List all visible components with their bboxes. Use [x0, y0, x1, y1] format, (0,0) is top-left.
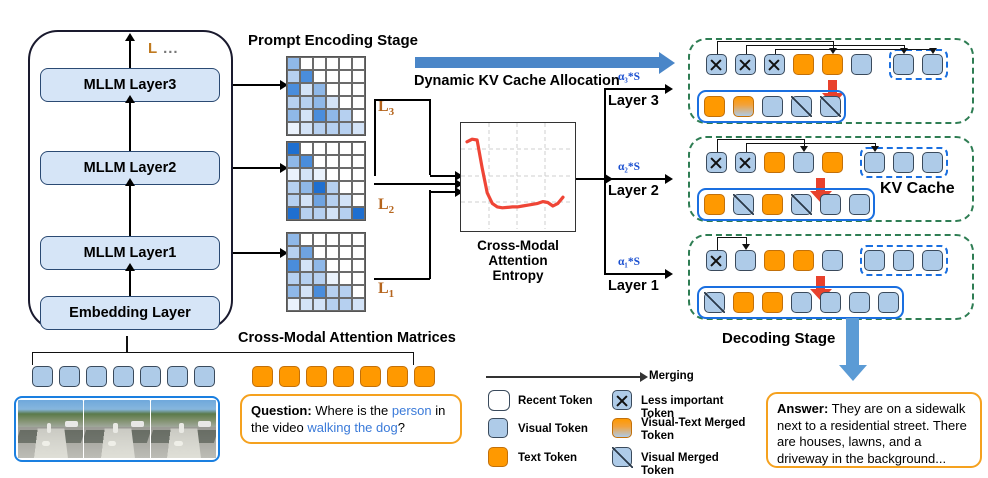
- merge-connector: [717, 237, 746, 238]
- matrix-cell: [352, 96, 365, 109]
- matrix-cell: [339, 83, 352, 96]
- matrix-cell: [300, 233, 313, 246]
- matrix-cell: [339, 246, 352, 259]
- input-text-token: [360, 366, 381, 387]
- matrix-cell: [352, 272, 365, 285]
- input-text-token: [414, 366, 435, 387]
- kv-cache-token: [820, 96, 841, 117]
- matrix-cell: [326, 194, 339, 207]
- input-text-token: [306, 366, 327, 387]
- video-frame-2: [84, 400, 149, 458]
- visual-token-row: [32, 366, 215, 387]
- matrix-cell: [326, 285, 339, 298]
- merge-line-l1-v: [429, 190, 431, 279]
- dynamic-allocation-banner-arrow: [415, 57, 660, 68]
- matrix-cell: [287, 168, 300, 181]
- matrix-cell: [326, 70, 339, 83]
- arrow-l2-to-l3: [129, 102, 131, 151]
- matrix-cell: [326, 168, 339, 181]
- input-text-token: [387, 366, 408, 387]
- input-visual-token: [167, 366, 188, 387]
- matrix-cell: [339, 168, 352, 181]
- kv-recent-token: [893, 152, 914, 173]
- dynamic-allocation-label: Dynamic KV Cache Allocation: [414, 73, 620, 89]
- merge-connector: [746, 45, 904, 46]
- matrix-cell: [326, 246, 339, 259]
- matrix-cell: [352, 207, 365, 220]
- matrix-label-l3: L3: [378, 98, 394, 118]
- entropy-chart-svg: [461, 123, 573, 229]
- matrix-cell: [352, 285, 365, 298]
- arrow-out-top: [129, 40, 131, 68]
- matrix-cell: [287, 246, 300, 259]
- kv-cache-token: [791, 194, 812, 215]
- video-thumbnail-strip: [14, 396, 220, 462]
- arrow-l3-to-matrix: [233, 84, 281, 86]
- kv-prefix-token: [706, 152, 727, 173]
- arrow-alloc-layer3: [604, 88, 666, 90]
- matrix-cell: [287, 259, 300, 272]
- kv-prefix-token: [735, 54, 756, 75]
- matrix-cell: [326, 155, 339, 168]
- matrix-cell: [287, 70, 300, 83]
- matrix-cell: [287, 57, 300, 70]
- merge-line-l3-h: [374, 99, 430, 101]
- matrix-cell: [313, 207, 326, 220]
- matrix-cell: [300, 259, 313, 272]
- input-visual-token: [59, 366, 80, 387]
- matrix-cell: [313, 168, 326, 181]
- legend: Merging Recent Token Less important Toke…: [486, 370, 754, 470]
- merge-line-l3: [374, 100, 376, 176]
- matrix-cell: [300, 285, 313, 298]
- legend-swatch-visual-token: [488, 418, 508, 438]
- kv-prefix-token: [822, 250, 843, 271]
- legend-swatch-visual-merged-token: [612, 447, 632, 467]
- matrix-cell: [352, 194, 365, 207]
- arrow-entropy-to-alloc: [576, 178, 606, 180]
- matrix-cell: [287, 142, 300, 155]
- entropy-caption-l2: Attention: [452, 253, 584, 268]
- matrix-cell: [300, 83, 313, 96]
- matrix-cell: [313, 259, 326, 272]
- repeat-dots: ...: [163, 40, 179, 57]
- input-visual-token: [113, 366, 134, 387]
- input-token-brace: [32, 352, 414, 365]
- kv-cache-token: [762, 96, 783, 117]
- arrow-l1-to-entropy: [430, 191, 456, 193]
- kv-prefix-token: [851, 54, 872, 75]
- merge-arrow-tip: [929, 48, 937, 54]
- entropy-caption-l1: Cross-Modal: [452, 238, 584, 253]
- kv-prefix-token: [822, 54, 843, 75]
- arrow-alloc-layer1: [604, 273, 666, 275]
- kv-cache-token: [878, 292, 899, 313]
- input-visual-token: [194, 366, 215, 387]
- merge-line-l1-h: [374, 278, 430, 280]
- matrix-cell: [287, 155, 300, 168]
- layer3-label: Layer 3: [608, 93, 659, 109]
- kv-prefix-token: [793, 54, 814, 75]
- matrix-cell: [352, 259, 365, 272]
- matrix-cell: [339, 70, 352, 83]
- question-part1: Where is the: [312, 403, 392, 418]
- matrix-cell: [287, 194, 300, 207]
- legend-swatch-less-important-token: [612, 390, 632, 410]
- matrix-cell: [313, 142, 326, 155]
- matrix-cell: [287, 298, 300, 311]
- legend-swatch-visual-text-merged-token: [612, 418, 632, 438]
- entropy-caption-l3: Entropy: [452, 268, 584, 283]
- prompt-encoding-stage-title: Prompt Encoding Stage: [248, 32, 418, 49]
- repeat-letter: L: [148, 40, 158, 57]
- entropy-chart: [460, 122, 576, 232]
- matrix-cell: [339, 298, 352, 311]
- matrix-cell: [313, 298, 326, 311]
- layer1-label: Layer 1: [608, 278, 659, 294]
- kv-prefix-token: [764, 152, 785, 173]
- kv-prefix-token: [764, 54, 785, 75]
- matrix-cell: [352, 181, 365, 194]
- kv-recent-token: [893, 250, 914, 271]
- matrix-cell: [339, 96, 352, 109]
- kv-cache-token: [704, 292, 725, 313]
- matrix-cell: [339, 57, 352, 70]
- merge-connector: [717, 41, 833, 42]
- video-frame-1: [18, 400, 83, 458]
- kv-cache-token: [820, 292, 841, 313]
- kv-prefix-token: [735, 250, 756, 271]
- answer-label: Answer:: [777, 401, 828, 416]
- input-text-token: [279, 366, 300, 387]
- merge-arrow-tip: [871, 146, 879, 152]
- kv-prefix-token: [793, 152, 814, 173]
- arrow-l3-to-entropy: [430, 175, 456, 177]
- matrix-cell: [300, 246, 313, 259]
- entropy-caption: Cross-Modal Attention Entropy: [452, 238, 584, 283]
- decoding-arrow: [846, 318, 859, 366]
- matrix-cell: [300, 109, 313, 122]
- matrix-cell: [352, 142, 365, 155]
- kv-recent-token: [922, 152, 943, 173]
- matrix-cell: [313, 285, 326, 298]
- text-token-row: [252, 366, 435, 387]
- matrix-label-l2: L2: [378, 196, 394, 216]
- kv-cache-token: [791, 96, 812, 117]
- question-highlight-action: walking the dog: [307, 420, 397, 435]
- kv-recent-token: [864, 152, 885, 173]
- question-label: Question:: [251, 403, 312, 418]
- matrix-cell: [300, 272, 313, 285]
- matrix-cell: [339, 155, 352, 168]
- merge-connector: [717, 139, 718, 152]
- matrix-cell: [300, 207, 313, 220]
- matrix-label-l1: L1: [378, 280, 394, 300]
- matrix-cell: [352, 70, 365, 83]
- matrix-cell: [313, 272, 326, 285]
- kv-cache-token: [733, 292, 754, 313]
- matrix-cell: [326, 298, 339, 311]
- matrix-cell: [326, 259, 339, 272]
- alloc-spine-lower: [604, 178, 606, 274]
- arrow-l2-to-entropy: [374, 183, 456, 185]
- layer2-label: Layer 2: [608, 183, 659, 199]
- matrix-cell: [339, 233, 352, 246]
- matrix-cell: [352, 298, 365, 311]
- matrix-cell: [300, 122, 313, 135]
- matrix-cell: [352, 168, 365, 181]
- alpha-layer3: α₃*S: [618, 71, 640, 83]
- merge-connector: [717, 237, 718, 250]
- kv-cache-token: [762, 194, 783, 215]
- matrix-cell: [326, 83, 339, 96]
- matrix-cell: [313, 246, 326, 259]
- kv-cache-token: [704, 96, 725, 117]
- matrix-cell: [287, 285, 300, 298]
- kv-cache-token: [733, 96, 754, 117]
- kv-recent-token: [922, 250, 943, 271]
- matrix-cell: [339, 142, 352, 155]
- attention-matrix-layer1: [286, 232, 366, 312]
- matrix-cell: [326, 57, 339, 70]
- kv-cache-token: [704, 194, 725, 215]
- matrix-cell: [339, 109, 352, 122]
- kv-cache-token: [820, 194, 841, 215]
- matrix-cell: [326, 109, 339, 122]
- matrix-cell: [326, 207, 339, 220]
- brace-stem: [126, 336, 128, 352]
- matrix-cell: [326, 96, 339, 109]
- legend-label-recent-token: Recent Token: [518, 395, 593, 408]
- merge-arrow-tip: [742, 244, 750, 250]
- matrix-cell: [300, 194, 313, 207]
- matrix-cell: [313, 96, 326, 109]
- matrix-cell: [339, 285, 352, 298]
- input-text-token: [252, 366, 273, 387]
- merge-connector: [746, 143, 875, 144]
- merge-connector: [775, 49, 933, 50]
- decoding-stage-title: Decoding Stage: [722, 330, 835, 347]
- matrix-cell: [352, 233, 365, 246]
- matrix-cell: [352, 246, 365, 259]
- legend-label-visual-token: Visual Token: [518, 423, 588, 436]
- matrix-cell: [287, 233, 300, 246]
- matrix-cell: [287, 96, 300, 109]
- kv-cache-label: KV Cache: [880, 180, 955, 198]
- input-visual-token: [140, 366, 161, 387]
- matrix-cell: [313, 70, 326, 83]
- input-visual-token: [86, 366, 107, 387]
- arrow-alloc-layer2: [604, 178, 666, 180]
- matrix-cell: [287, 272, 300, 285]
- attention-matrix-layer2: [286, 141, 366, 221]
- matrix-cell: [339, 259, 352, 272]
- video-frame-3: [151, 400, 216, 458]
- kv-recent-token: [893, 54, 914, 75]
- matrix-cell: [313, 233, 326, 246]
- kv-recent-token: [922, 54, 943, 75]
- matrix-cell: [300, 96, 313, 109]
- matrix-cell: [313, 83, 326, 96]
- attention-matrix-layer3: [286, 56, 366, 136]
- kv-prefix-token: [793, 250, 814, 271]
- matrix-cell: [326, 122, 339, 135]
- matrix-cell: [352, 57, 365, 70]
- legend-label-visual-text-merged-token: Visual-Text Merged Token: [641, 417, 749, 443]
- input-visual-token: [32, 366, 53, 387]
- matrix-cell: [313, 155, 326, 168]
- matrix-cell: [313, 122, 326, 135]
- matrix-cell: [326, 233, 339, 246]
- kv-cache-token: [849, 194, 870, 215]
- legend-merging-label: Merging: [649, 370, 694, 383]
- matrix-cell: [300, 298, 313, 311]
- arrow-l2-to-matrix: [233, 167, 281, 169]
- merge-connector: [746, 237, 747, 244]
- matrix-cell: [300, 70, 313, 83]
- matrix-cell: [287, 109, 300, 122]
- answer-box: Answer: They are on a sidewalk next to a…: [766, 392, 982, 468]
- legend-swatch-recent-token: [488, 390, 510, 411]
- matrix-cell: [339, 207, 352, 220]
- alpha-layer2: α₂*S: [618, 161, 640, 173]
- matrix-cell: [339, 272, 352, 285]
- kv-prefix-token: [706, 250, 727, 271]
- arrow-emb-to-l1: [129, 270, 131, 296]
- matrix-cell: [313, 194, 326, 207]
- merge-line-l3-v2: [429, 99, 431, 175]
- merge-arrow-tip: [800, 146, 808, 152]
- matrix-cell: [300, 168, 313, 181]
- embedding-layer-box[interactable]: Embedding Layer: [40, 296, 220, 330]
- cross-modal-matrices-title: Cross-Modal Attention Matrices: [238, 330, 456, 346]
- matrix-cell: [287, 207, 300, 220]
- matrix-cell: [339, 122, 352, 135]
- question-part3: ?: [398, 420, 405, 435]
- matrix-cell: [313, 57, 326, 70]
- legend-label-visual-merged-token: Visual Merged Token: [641, 452, 754, 478]
- matrix-cell: [339, 181, 352, 194]
- matrix-cell: [287, 83, 300, 96]
- matrix-cell: [326, 272, 339, 285]
- merge-connector: [717, 41, 718, 54]
- matrix-cell: [300, 57, 313, 70]
- matrix-cell: [313, 181, 326, 194]
- matrix-cell: [352, 122, 365, 135]
- arrow-l1-to-l2: [129, 185, 131, 236]
- question-highlight-person: person: [392, 403, 432, 418]
- matrix-cell: [352, 155, 365, 168]
- kv-cache-token: [791, 292, 812, 313]
- matrix-cell: [287, 122, 300, 135]
- matrix-cell: [326, 181, 339, 194]
- merge-connector: [717, 139, 804, 140]
- kv-cache-token: [762, 292, 783, 313]
- question-box: Question: Where is the person in the vid…: [240, 394, 462, 444]
- repeat-marker: L ...: [148, 40, 179, 57]
- kv-prefix-token: [706, 54, 727, 75]
- matrix-cell: [300, 142, 313, 155]
- input-text-token: [333, 366, 354, 387]
- matrix-cell: [352, 83, 365, 96]
- matrix-cell: [287, 181, 300, 194]
- matrix-cell: [326, 142, 339, 155]
- matrix-cell: [300, 155, 313, 168]
- matrix-cell: [352, 109, 365, 122]
- kv-recent-token: [864, 250, 885, 271]
- kv-cache-token: [733, 194, 754, 215]
- arrow-l1-to-matrix: [233, 252, 281, 254]
- alpha-layer1: α₁*S: [618, 256, 640, 268]
- matrix-cell: [313, 109, 326, 122]
- legend-swatch-text-token: [488, 447, 508, 467]
- kv-prefix-token: [822, 152, 843, 173]
- merging-arrow-icon: [486, 376, 641, 378]
- kv-prefix-token: [735, 152, 756, 173]
- kv-cache-token: [849, 292, 870, 313]
- kv-prefix-token: [764, 250, 785, 271]
- matrix-cell: [300, 181, 313, 194]
- matrix-cell: [339, 194, 352, 207]
- alloc-spine-upper: [604, 88, 606, 178]
- legend-label-text-token: Text Token: [518, 452, 577, 465]
